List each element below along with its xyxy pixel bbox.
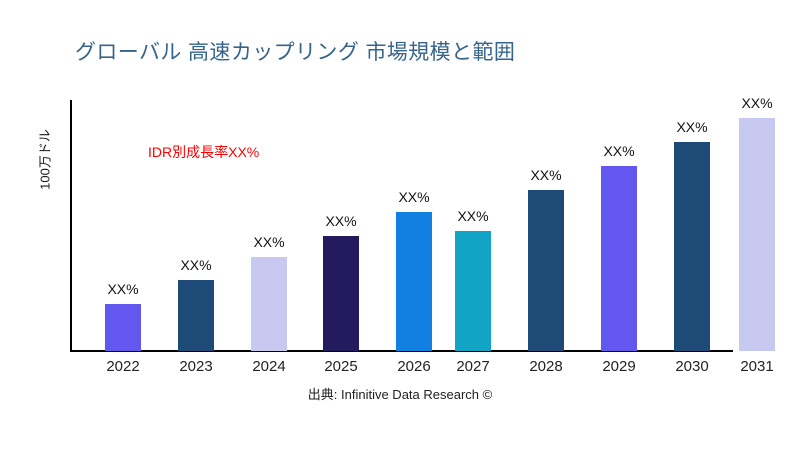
bar-value-label: XX% [253, 234, 284, 250]
x-axis-tick-label: 2024 [252, 358, 285, 375]
bar[interactable] [739, 118, 775, 351]
chart-page: グローバル 高速カップリング 市場規模と範囲 100万ドル IDR別成長率XX%… [0, 0, 800, 450]
source-note: 出典: Infinitive Data Research © [0, 384, 800, 403]
x-axis-tick-label: 2025 [324, 358, 357, 375]
x-axis-tick-label: 2027 [456, 358, 489, 375]
x-axis-tick-label: 2031 [740, 358, 773, 375]
bar-group[interactable]: XX%2025 [323, 0, 359, 450]
y-axis-title: 100万ドル [35, 100, 54, 220]
x-axis-tick-label: 2026 [397, 358, 430, 375]
bar-value-label: XX% [398, 189, 429, 205]
bar-value-label: XX% [741, 95, 772, 111]
bar-group[interactable]: XX%2031 [739, 0, 775, 450]
bar-value-label: XX% [180, 257, 211, 273]
bar[interactable] [528, 190, 564, 351]
bar[interactable] [601, 166, 637, 351]
bar-group[interactable]: XX%2024 [251, 0, 287, 450]
bar-value-label: XX% [107, 281, 138, 297]
bar-value-label: XX% [530, 167, 561, 183]
x-axis-tick-label: 2028 [529, 358, 562, 375]
x-axis-tick-label: 2022 [106, 358, 139, 375]
bar-group[interactable]: XX%2027 [455, 0, 491, 450]
bar-chart-plot-area: 100万ドル IDR別成長率XX% XX%2022XX%2023XX%2024X… [0, 0, 800, 450]
bar[interactable] [323, 236, 359, 351]
bar-group[interactable]: XX%2029 [601, 0, 637, 450]
x-axis-tick-label: 2030 [675, 358, 708, 375]
bar[interactable] [251, 257, 287, 351]
x-axis-tick-label: 2029 [602, 358, 635, 375]
bar-value-label: XX% [676, 119, 707, 135]
bar[interactable] [396, 212, 432, 351]
x-axis-tick-label: 2023 [179, 358, 212, 375]
bar[interactable] [105, 304, 141, 351]
bar-value-label: XX% [603, 143, 634, 159]
bar-group[interactable]: XX%2022 [105, 0, 141, 450]
bar-group[interactable]: XX%2023 [178, 0, 214, 450]
bar-value-label: XX% [325, 213, 356, 229]
y-axis-line [70, 100, 72, 352]
bar[interactable] [674, 142, 710, 351]
bar-value-label: XX% [457, 208, 488, 224]
bar-group[interactable]: XX%2026 [396, 0, 432, 450]
bar[interactable] [178, 280, 214, 351]
bar-group[interactable]: XX%2028 [528, 0, 564, 450]
bar[interactable] [455, 231, 491, 351]
bar-group[interactable]: XX%2030 [674, 0, 710, 450]
